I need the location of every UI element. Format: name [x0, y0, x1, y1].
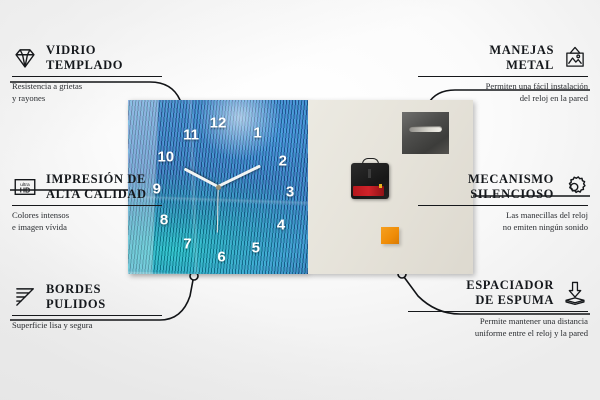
title-line-2: ALTA CALIDAD — [46, 187, 147, 201]
callout-vidrio-templado[interactable]: VIDRIO TEMPLADO Resistencia a grietas y … — [12, 43, 162, 104]
clock-numeral-12: 12 — [210, 115, 227, 130]
title-line-1: VIDRIO — [46, 43, 96, 57]
callout-rule — [418, 76, 588, 78]
callout-manejas-metal[interactable]: MANEJAS METAL Permiten una fácil instala… — [418, 43, 588, 104]
callout-title: ESPACIADOR DE ESPUMA — [466, 278, 554, 308]
clock-numeral-6: 6 — [217, 249, 225, 264]
callout-head: VIDRIO TEMPLADO — [12, 43, 162, 73]
callout-description: Colores intensos e imagen vívida — [12, 210, 162, 233]
callout-head: MANEJAS METAL — [418, 43, 588, 73]
callout-espaciador-espuma[interactable]: ESPACIADOR DE ESPUMA Permite mantener un… — [408, 278, 588, 339]
callout-head: ESPACIADOR DE ESPUMA — [408, 278, 588, 308]
callout-description: Resistencia a grietas y rayones — [12, 81, 162, 104]
picture-hanger-icon — [562, 45, 588, 71]
callout-head: BORDES PULIDOS — [12, 282, 162, 312]
callout-rule — [12, 76, 162, 78]
clock-numeral-11: 11 — [183, 127, 199, 142]
callout-impresion-alta-calidad[interactable]: ultra HD IMPRESIÓN DE ALTA CALIDAD Color… — [12, 172, 162, 233]
callout-rule — [12, 205, 162, 207]
foam-spacer — [381, 227, 399, 244]
callout-title: MECANISMO SILENCIOSO — [468, 172, 554, 202]
infographic-canvas: 12 1 2 3 4 5 6 7 8 9 10 11 — [0, 0, 600, 400]
callout-description: Permiten una fácil instalación del reloj… — [418, 81, 588, 104]
title-line-2: SILENCIOSO — [470, 187, 554, 201]
clock-center-cap — [216, 185, 221, 190]
gear-icon — [562, 174, 588, 200]
title-line-2: TEMPLADO — [46, 58, 123, 72]
callout-description: Superficie lisa y segura — [12, 320, 162, 331]
quartz-mechanism — [351, 163, 389, 199]
clock-numeral-3: 3 — [286, 185, 294, 200]
title-line-1: MANEJAS — [489, 43, 554, 57]
callout-rule — [12, 315, 162, 317]
callout-bordes-pulidos[interactable]: BORDES PULIDOS Superficie lisa y segura — [12, 282, 162, 332]
clock-numeral-5: 5 — [252, 240, 260, 255]
callout-head: ultra HD IMPRESIÓN DE ALTA CALIDAD — [12, 172, 162, 202]
title-line-2: PULIDOS — [46, 297, 106, 311]
callout-mecanismo-silencioso[interactable]: MECANISMO SILENCIOSO Las manecillas del … — [418, 172, 588, 233]
mechanism-hanging-loop — [362, 158, 379, 165]
metal-hanger-plate — [402, 112, 449, 154]
callout-title: MANEJAS METAL — [489, 43, 554, 73]
clock-numeral-2: 2 — [279, 153, 287, 168]
diamond-icon — [12, 45, 38, 71]
title-line-2: METAL — [506, 58, 554, 72]
svg-text:HD: HD — [20, 185, 31, 194]
callout-description: Las manecillas del reloj no emiten ningú… — [418, 210, 588, 233]
ultra-hd-icon: ultra HD — [12, 174, 38, 200]
callout-rule — [418, 205, 588, 207]
callout-title: IMPRESIÓN DE ALTA CALIDAD — [46, 172, 147, 202]
title-line-1: MECANISMO — [468, 172, 554, 186]
callout-description: Permite mantener una distancia uniforme … — [408, 316, 588, 339]
callout-head: MECANISMO SILENCIOSO — [418, 172, 588, 202]
foam-spacer-icon — [562, 280, 588, 306]
clock-numeral-7: 7 — [183, 237, 191, 252]
callout-title: VIDRIO TEMPLADO — [46, 43, 123, 73]
callout-rule — [408, 311, 588, 313]
title-line-1: IMPRESIÓN DE — [46, 172, 146, 186]
callout-title: BORDES PULIDOS — [46, 282, 106, 312]
mechanism-shaft — [368, 169, 371, 178]
clock-numeral-4: 4 — [277, 218, 285, 233]
hanger-slot — [409, 126, 442, 133]
mechanism-battery — [353, 186, 384, 195]
clock-numeral-1: 1 — [253, 126, 261, 141]
title-line-1: BORDES — [46, 282, 101, 296]
polished-edges-icon — [12, 284, 38, 310]
clock-numeral-10: 10 — [157, 150, 174, 165]
title-line-2: DE ESPUMA — [475, 293, 554, 307]
title-line-1: ESPACIADOR — [466, 278, 554, 292]
